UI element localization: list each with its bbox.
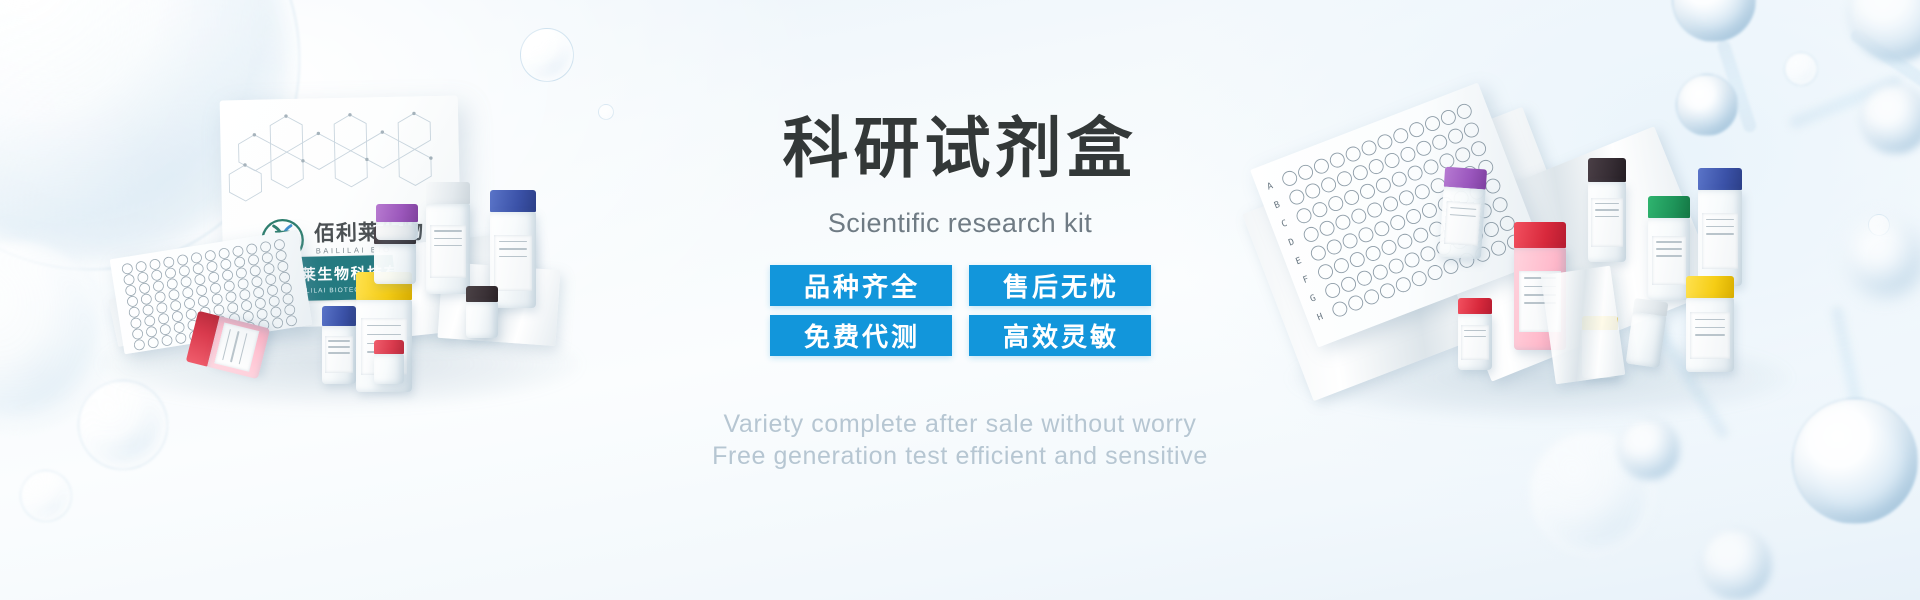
badge-efficient-sensitive[interactable]: 高效灵敏 [969,315,1151,356]
badge-variety-complete[interactable]: 品种齐全 [770,265,952,306]
page-title: 科研试剂盒 [783,116,1138,182]
tagline: Variety complete after sale without worr… [712,408,1208,472]
feature-badge-list: 品种齐全 售后无忧 免费代测 高效灵敏 [770,265,1151,356]
tagline-line-2: Free generation test efficient and sensi… [712,440,1208,472]
badge-after-sale[interactable]: 售后无忧 [969,265,1151,306]
banner-root: 佰利莱生物 BAILILAI BIOLOGY 上海佰利莱生物科技有限公司 SHA… [0,0,1920,600]
badge-free-testing[interactable]: 免费代测 [770,315,952,356]
page-subtitle: Scientific research kit [828,208,1092,239]
banner-content: 科研试剂盒 Scientific research kit 品种齐全 售后无忧 … [0,0,1920,600]
tagline-line-1: Variety complete after sale without worr… [724,410,1197,438]
